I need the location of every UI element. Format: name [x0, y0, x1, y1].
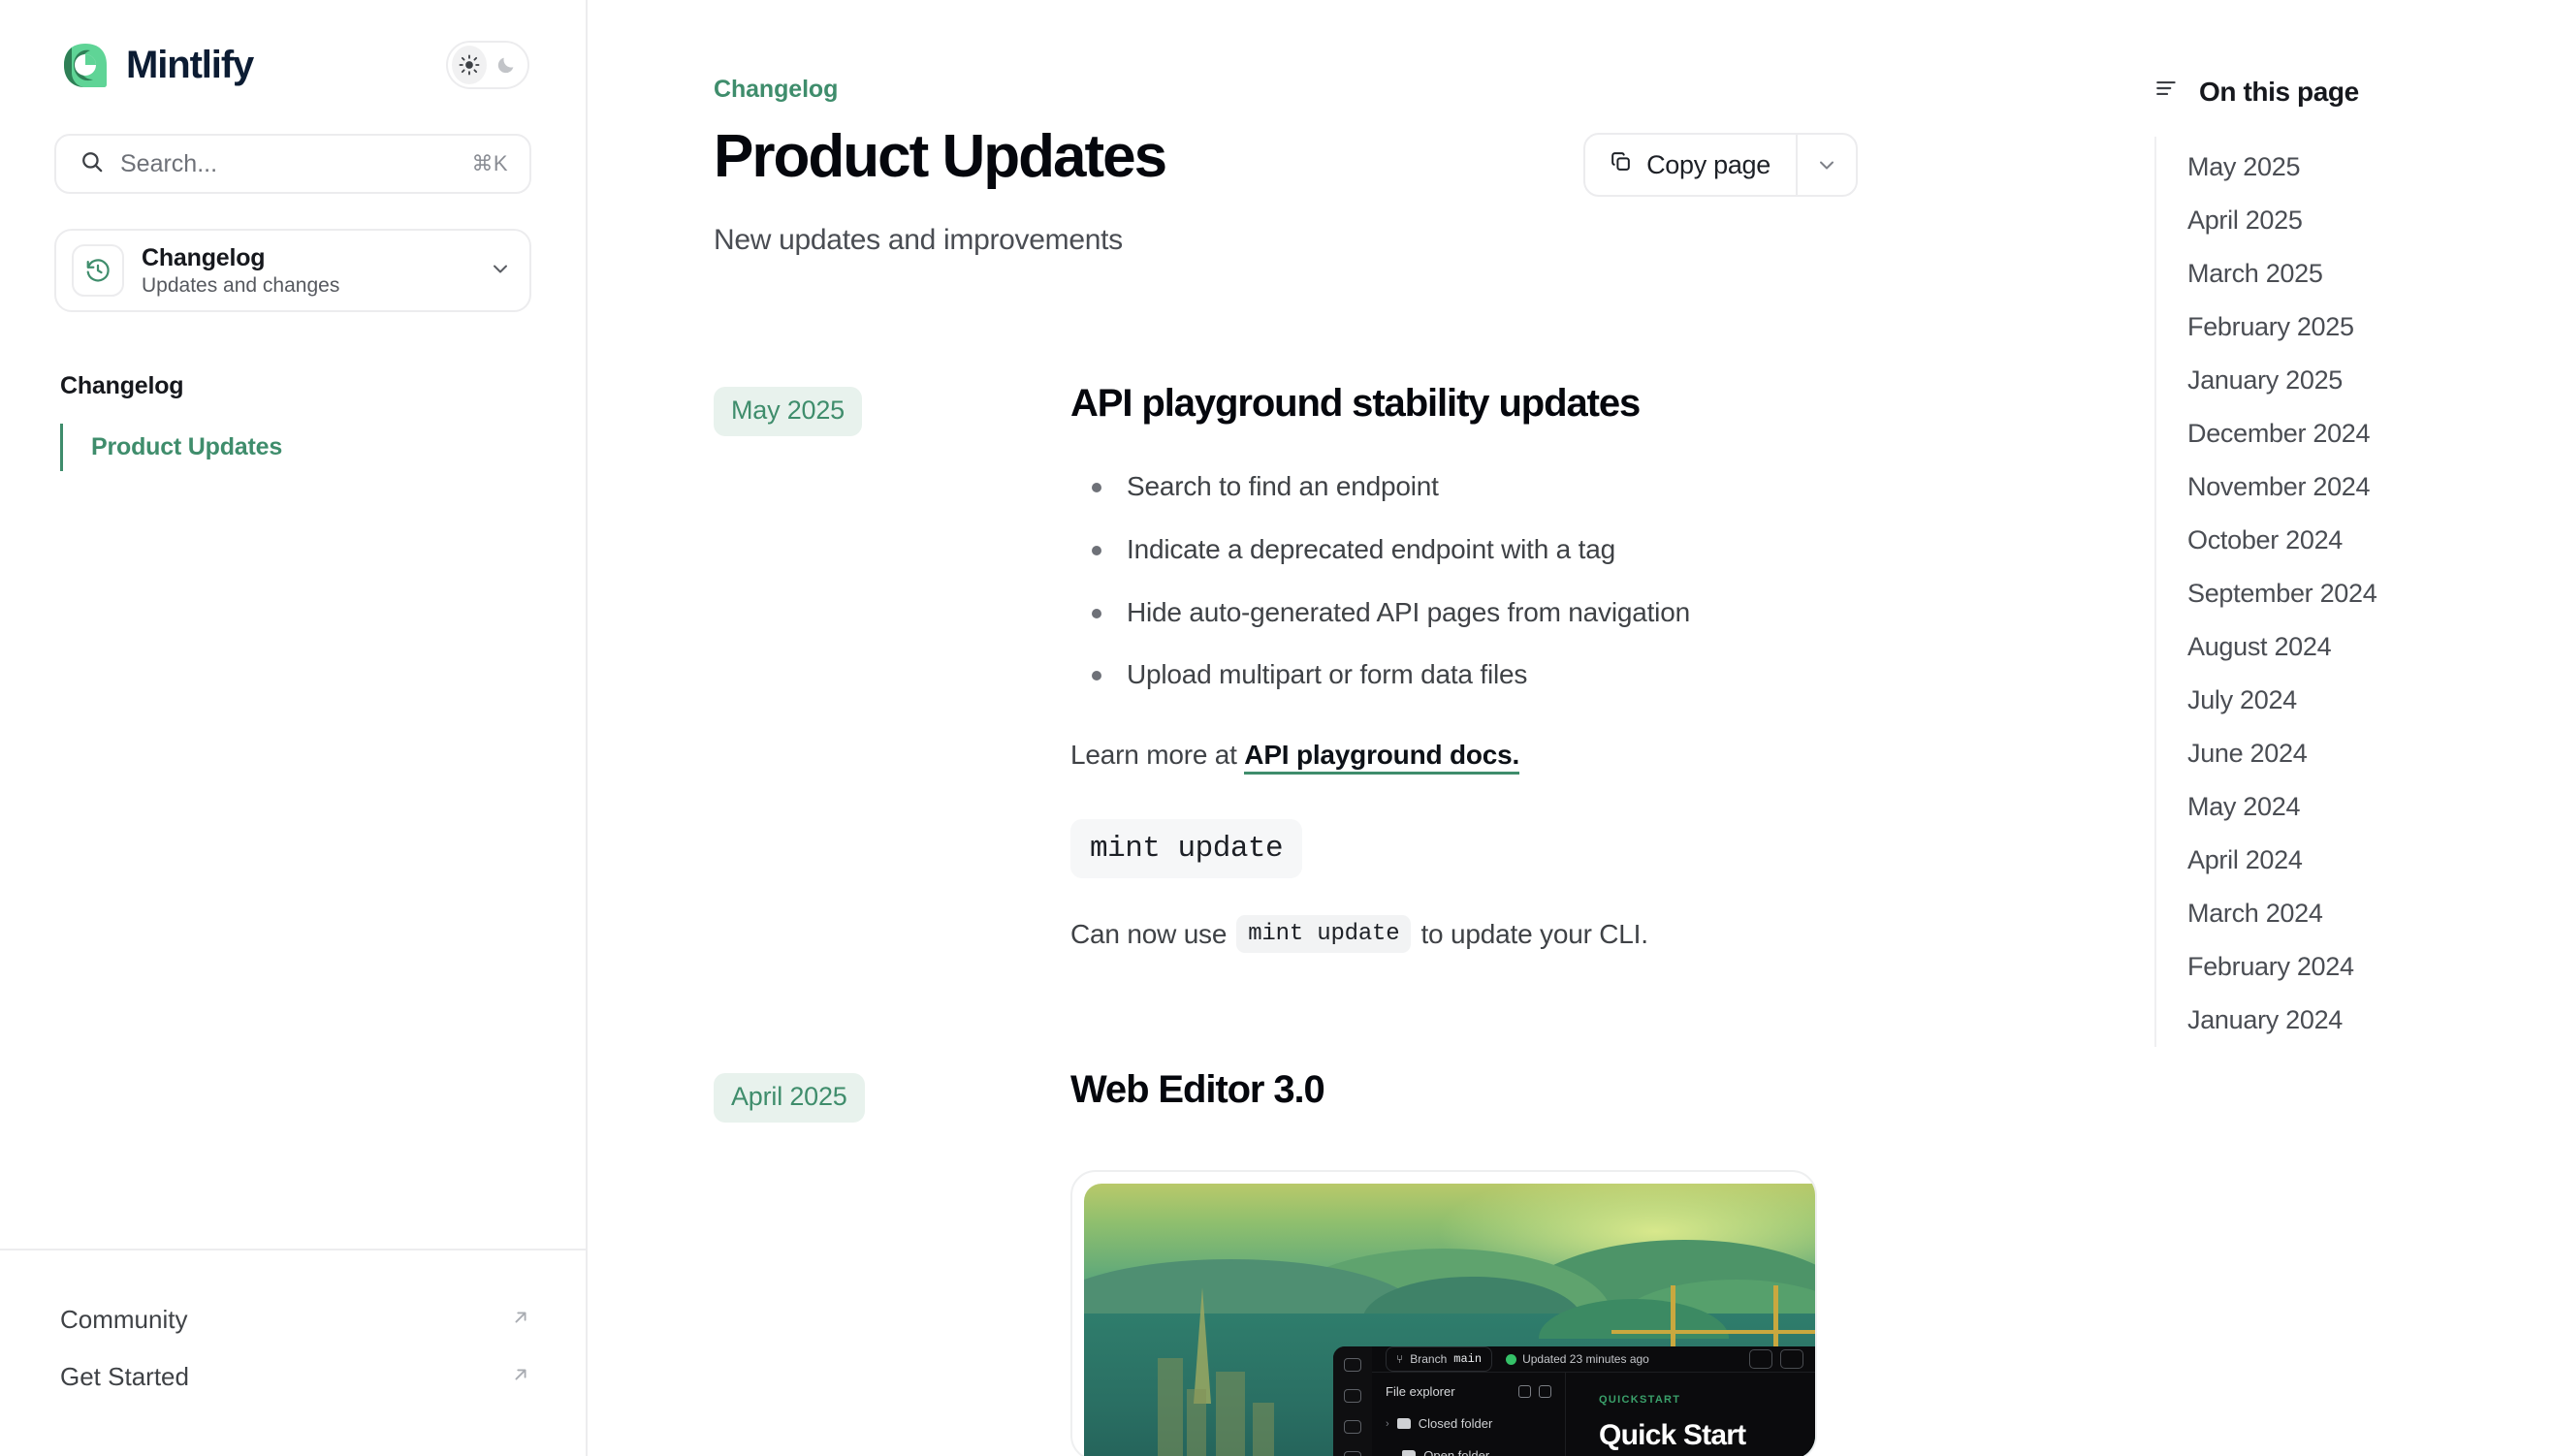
doc-kicker: QUICKSTART	[1599, 1394, 1817, 1406]
new-file-icon[interactable]	[1539, 1385, 1551, 1398]
code-chip-mint-update: mint update	[1070, 819, 1302, 878]
brand[interactable]: Mintlify	[60, 40, 253, 90]
folder-closed-icon	[1397, 1418, 1411, 1429]
changelog-selector[interactable]: Changelog Updates and changes	[54, 229, 531, 312]
theme-toggle[interactable]	[446, 41, 529, 89]
search-icon	[80, 149, 105, 179]
chevron-down-icon[interactable]	[489, 257, 512, 285]
editor-columns: File explorer	[1372, 1373, 1817, 1456]
toc-item[interactable]: April 2024	[2156, 834, 2552, 887]
city-building	[1253, 1403, 1274, 1456]
file-tree-row[interactable]: ⌄ Open folder	[1386, 1448, 1551, 1456]
branch-selector[interactable]: ⑂ Branch main	[1386, 1346, 1492, 1372]
cli-prefix: Can now use	[1070, 919, 1227, 950]
city-building	[1158, 1358, 1183, 1456]
copy-page-dropdown-toggle[interactable]	[1796, 135, 1856, 195]
updated-status: Updated 23 minutes ago	[1506, 1352, 1649, 1366]
sidebar-footer: Community Get Started	[0, 1249, 586, 1456]
list-icon	[2154, 76, 2180, 108]
toc-item[interactable]: May 2025	[2156, 141, 2552, 194]
toc-item[interactable]: March 2025	[2156, 247, 2552, 301]
toc-item[interactable]: February 2024	[2156, 940, 2552, 994]
copy-icon	[1609, 149, 1633, 180]
editor-doc-preview: QUICKSTART Quick Start	[1566, 1373, 1817, 1456]
toc-item[interactable]: April 2025	[2156, 194, 2552, 247]
folder-label: Closed folder	[1419, 1416, 1493, 1431]
toc-item[interactable]: October 2024	[2156, 514, 2552, 567]
toc-item[interactable]: March 2024	[2156, 887, 2552, 940]
file-icon[interactable]	[1344, 1420, 1361, 1434]
changelog-selector-text: Changelog Updates and changes	[142, 244, 471, 298]
list-item: Search to find an endpoint	[1070, 468, 1858, 505]
file-explorer-label: File explorer	[1386, 1384, 1455, 1399]
changelog-entry: April 2025 Web Editor 3.0	[714, 1067, 1858, 1456]
toc-item[interactable]: August 2024	[2156, 620, 2552, 674]
file-explorer-actions	[1518, 1385, 1551, 1398]
changelog-selector-title: Changelog	[142, 244, 471, 272]
layout-icon[interactable]	[1749, 1349, 1772, 1369]
copy-page-label: Copy page	[1646, 150, 1770, 180]
page-title: Product Updates	[714, 125, 1165, 188]
toc-item[interactable]: December 2024	[2156, 407, 2552, 460]
learn-more-prefix: Learn more at	[1070, 740, 1244, 770]
footer-link-get-started[interactable]: Get Started	[60, 1348, 531, 1406]
footer-link-community[interactable]: Community	[60, 1291, 531, 1348]
editor-window: ⑂ Branch main Updated 23 minutes ago	[1333, 1346, 1817, 1456]
changelog-selector-subtitle: Updates and changes	[142, 274, 471, 298]
page-title-block: Product Updates	[714, 125, 1165, 188]
inline-code-mint-update: mint update	[1236, 915, 1411, 953]
branch-icon: ⑂	[1396, 1352, 1403, 1366]
toc-item[interactable]: July 2024	[2156, 674, 2552, 727]
brand-name: Mintlify	[126, 44, 253, 87]
page-subtitle: New updates and improvements	[714, 224, 1858, 257]
list-item: Hide auto-generated API pages from navig…	[1070, 594, 1858, 631]
cli-suffix: to update your CLI.	[1420, 919, 1647, 950]
branch-name: main	[1453, 1352, 1482, 1366]
entry-date-column: April 2025	[714, 1067, 1070, 1123]
search-placeholder: Search...	[120, 150, 457, 178]
external-link-icon	[510, 1305, 531, 1335]
cli-line: Can now use mint update to update your C…	[1070, 915, 1858, 953]
search-input[interactable]: Search... ⌘K	[54, 134, 531, 194]
on-this-page-panel: On this page May 2025 April 2025 March 2…	[2125, 0, 2552, 1456]
toc-item[interactable]: January 2024	[2156, 994, 2552, 1047]
web-editor-screenshot: ⑂ Branch main Updated 23 minutes ago	[1070, 1170, 1817, 1456]
changelog-entries: May 2025 API playground stability update…	[714, 381, 1858, 1456]
entry-body: Web Editor 3.0	[1070, 1067, 1858, 1456]
file-explorer-header: File explorer	[1386, 1384, 1551, 1399]
learn-more-line: Learn more at API playground docs.	[1070, 740, 1858, 771]
editor-main: ⑂ Branch main Updated 23 minutes ago	[1372, 1346, 1817, 1456]
preview-icon[interactable]	[1780, 1349, 1803, 1369]
sidebar: Mintlify	[0, 0, 588, 1456]
city-building	[1187, 1389, 1206, 1456]
list-item: Upload multipart or form data files	[1070, 656, 1858, 693]
image-icon[interactable]	[1344, 1451, 1361, 1456]
file-tree-row[interactable]: › Closed folder	[1386, 1416, 1551, 1431]
sidebar-header: Mintlify	[0, 0, 586, 93]
bridge-deck	[1611, 1330, 1817, 1334]
doc-title: Quick Start	[1599, 1419, 1817, 1452]
changelog-entry: May 2025 API playground stability update…	[714, 381, 1858, 953]
entry-title: API playground stability updates	[1070, 381, 1858, 426]
copy-page-button[interactable]: Copy page	[1585, 135, 1796, 195]
status-check-icon	[1506, 1354, 1516, 1365]
main-content: Changelog Product Updates Copy page	[588, 0, 2552, 1456]
new-folder-icon[interactable]	[1518, 1385, 1531, 1398]
list-item: Indicate a deprecated endpoint with a ta…	[1070, 531, 1858, 568]
article: Changelog Product Updates Copy page	[714, 0, 1858, 1456]
toc-item[interactable]: February 2025	[2156, 301, 2552, 354]
toc-item[interactable]: June 2024	[2156, 727, 2552, 780]
entry-bullet-list: Search to find an endpoint Indicate a de…	[1070, 468, 1858, 693]
on-this-page-title: On this page	[2199, 77, 2359, 108]
toc-item[interactable]: May 2024	[2156, 780, 2552, 834]
chevron-down-icon: ⌄	[1386, 1449, 1394, 1456]
date-badge[interactable]: May 2025	[714, 387, 862, 436]
editor-topbar-actions	[1749, 1349, 1803, 1369]
footer-link-get-started-label: Get Started	[60, 1362, 189, 1392]
pyramid-tower	[1194, 1287, 1211, 1404]
moon-icon[interactable]	[489, 46, 524, 84]
external-link-icon	[510, 1362, 531, 1392]
page-header: Product Updates Copy page	[714, 125, 1858, 197]
toc-item[interactable]: September 2024	[2156, 567, 2552, 620]
on-this-page-list: May 2025 April 2025 March 2025 February …	[2154, 137, 2552, 1047]
api-playground-docs-link[interactable]: API playground docs.	[1244, 740, 1519, 775]
branch-label: Branch	[1410, 1352, 1447, 1366]
sidebar-nav: Product Updates	[0, 424, 586, 471]
footer-link-community-label: Community	[60, 1305, 187, 1335]
search-shortcut-badge: ⌘K	[472, 151, 508, 176]
toc-item[interactable]: November 2024	[2156, 460, 2552, 514]
entry-title: Web Editor 3.0	[1070, 1067, 1858, 1112]
folder-label: Open folder	[1423, 1448, 1489, 1456]
breadcrumb[interactable]: Changelog	[714, 76, 1858, 104]
chevron-right-icon: ›	[1386, 1418, 1389, 1430]
city-building	[1216, 1372, 1245, 1456]
copy-page-button-group[interactable]: Copy page	[1583, 133, 1858, 197]
updated-text: Updated 23 minutes ago	[1522, 1352, 1649, 1366]
app-root: Mintlify	[0, 0, 2552, 1456]
nav-section-title: Changelog	[60, 372, 586, 400]
home-icon[interactable]	[1344, 1389, 1361, 1403]
file-explorer-panel: File explorer	[1372, 1373, 1566, 1456]
toc-item[interactable]: January 2025	[2156, 354, 2552, 407]
entry-body: API playground stability updates Search …	[1070, 381, 1858, 953]
mintlify-leaf-logo-icon	[60, 40, 111, 90]
editor-activity-rail	[1333, 1346, 1372, 1456]
folder-open-icon	[1402, 1450, 1416, 1456]
screenshot-canvas: ⑂ Branch main Updated 23 minutes ago	[1084, 1184, 1817, 1456]
date-badge[interactable]: April 2025	[714, 1073, 865, 1123]
panel-toggle-icon[interactable]	[1344, 1358, 1361, 1372]
history-clock-icon	[72, 244, 124, 297]
sun-icon[interactable]	[452, 46, 487, 84]
editor-topbar: ⑂ Branch main Updated 23 minutes ago	[1372, 1346, 1817, 1373]
entry-date-column: May 2025	[714, 381, 1070, 436]
sidebar-item-product-updates[interactable]: Product Updates	[60, 424, 586, 471]
on-this-page-header: On this page	[2125, 76, 2552, 108]
